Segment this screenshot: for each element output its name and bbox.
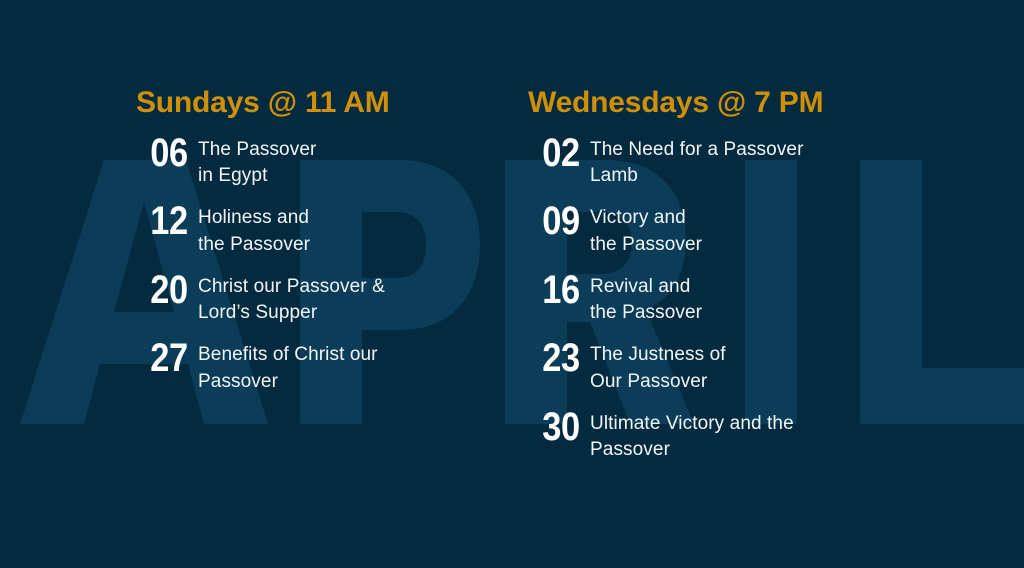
event-title-line2: the Passover [590, 300, 702, 326]
event-title: The Need for a Passover Lamb [590, 134, 804, 189]
event-title-line2: Our Passover [590, 369, 726, 395]
schedule-item[interactable]: 20 Christ our Passover & Lord’s Supper [136, 271, 496, 326]
day-number: 23 [537, 339, 590, 377]
schedule-item[interactable]: 09 Victory and the Passover [528, 202, 908, 257]
schedule-item[interactable]: 06 The Passover in Egypt [136, 134, 496, 189]
event-title-line2: the Passover [590, 232, 702, 258]
event-title-line1: The Need for a Passover [590, 139, 804, 160]
event-title-line1: The Passover [198, 139, 316, 160]
event-title-line1: Holiness and [198, 207, 309, 228]
day-number: 09 [537, 202, 590, 240]
schedule-list-sunday: 06 The Passover in Egypt 12 Holiness and… [136, 134, 496, 395]
schedule-item[interactable]: 23 The Justness of Our Passover [528, 339, 908, 394]
column-heading-sunday: Sundays @ 11 AM [136, 88, 496, 118]
event-title-line2: Lord’s Supper [198, 300, 385, 326]
event-title: The Justness of Our Passover [590, 339, 726, 394]
event-title-line1: Revival and [590, 276, 690, 297]
schedule-item[interactable]: 12 Holiness and the Passover [136, 202, 496, 257]
schedule-item[interactable]: 02 The Need for a Passover Lamb [528, 134, 908, 189]
slide-content: Sundays @ 11 AM 06 The Passover in Egypt… [0, 0, 1024, 568]
schedule-item[interactable]: 27 Benefits of Christ our Passover [136, 339, 496, 394]
day-number: 12 [145, 202, 198, 240]
column-sunday: Sundays @ 11 AM 06 The Passover in Egypt… [136, 88, 496, 395]
event-title-line2: Passover [198, 369, 378, 395]
event-title: Victory and the Passover [590, 202, 702, 257]
day-number: 06 [145, 134, 198, 172]
schedule-item[interactable]: 16 Revival and the Passover [528, 271, 908, 326]
schedule-list-wednesday: 02 The Need for a Passover Lamb 09 Victo… [528, 134, 908, 463]
day-number: 30 [537, 408, 590, 446]
event-title-line1: The Justness of [590, 344, 726, 365]
event-title: Holiness and the Passover [198, 202, 310, 257]
schedule-item[interactable]: 30 Ultimate Victory and the Passover [528, 408, 908, 463]
event-title-line2: Lamb [590, 163, 804, 189]
event-title-line1: Benefits of Christ our [198, 344, 378, 365]
day-number: 20 [145, 271, 198, 309]
event-title-line2: the Passover [198, 232, 310, 258]
column-wednesday: Wednesdays @ 7 PM 02 The Need for a Pass… [528, 88, 908, 463]
event-title: Revival and the Passover [590, 271, 702, 326]
day-number: 02 [537, 134, 590, 172]
schedule-slide: Sundays @ 11 AM 06 The Passover in Egypt… [0, 0, 1024, 568]
event-title-line1: Victory and [590, 207, 686, 228]
column-heading-wednesday: Wednesdays @ 7 PM [528, 88, 908, 118]
event-title-line2: in Egypt [198, 163, 316, 189]
event-title: The Passover in Egypt [198, 134, 316, 189]
event-title-line1: Ultimate Victory and the [590, 413, 794, 434]
event-title: Ultimate Victory and the Passover [590, 408, 794, 463]
event-title-line1: Christ our Passover & [198, 276, 385, 297]
day-number: 16 [537, 271, 590, 309]
event-title: Christ our Passover & Lord’s Supper [198, 271, 385, 326]
day-number: 27 [145, 339, 198, 377]
event-title-line2: Passover [590, 437, 794, 463]
event-title: Benefits of Christ our Passover [198, 339, 378, 394]
